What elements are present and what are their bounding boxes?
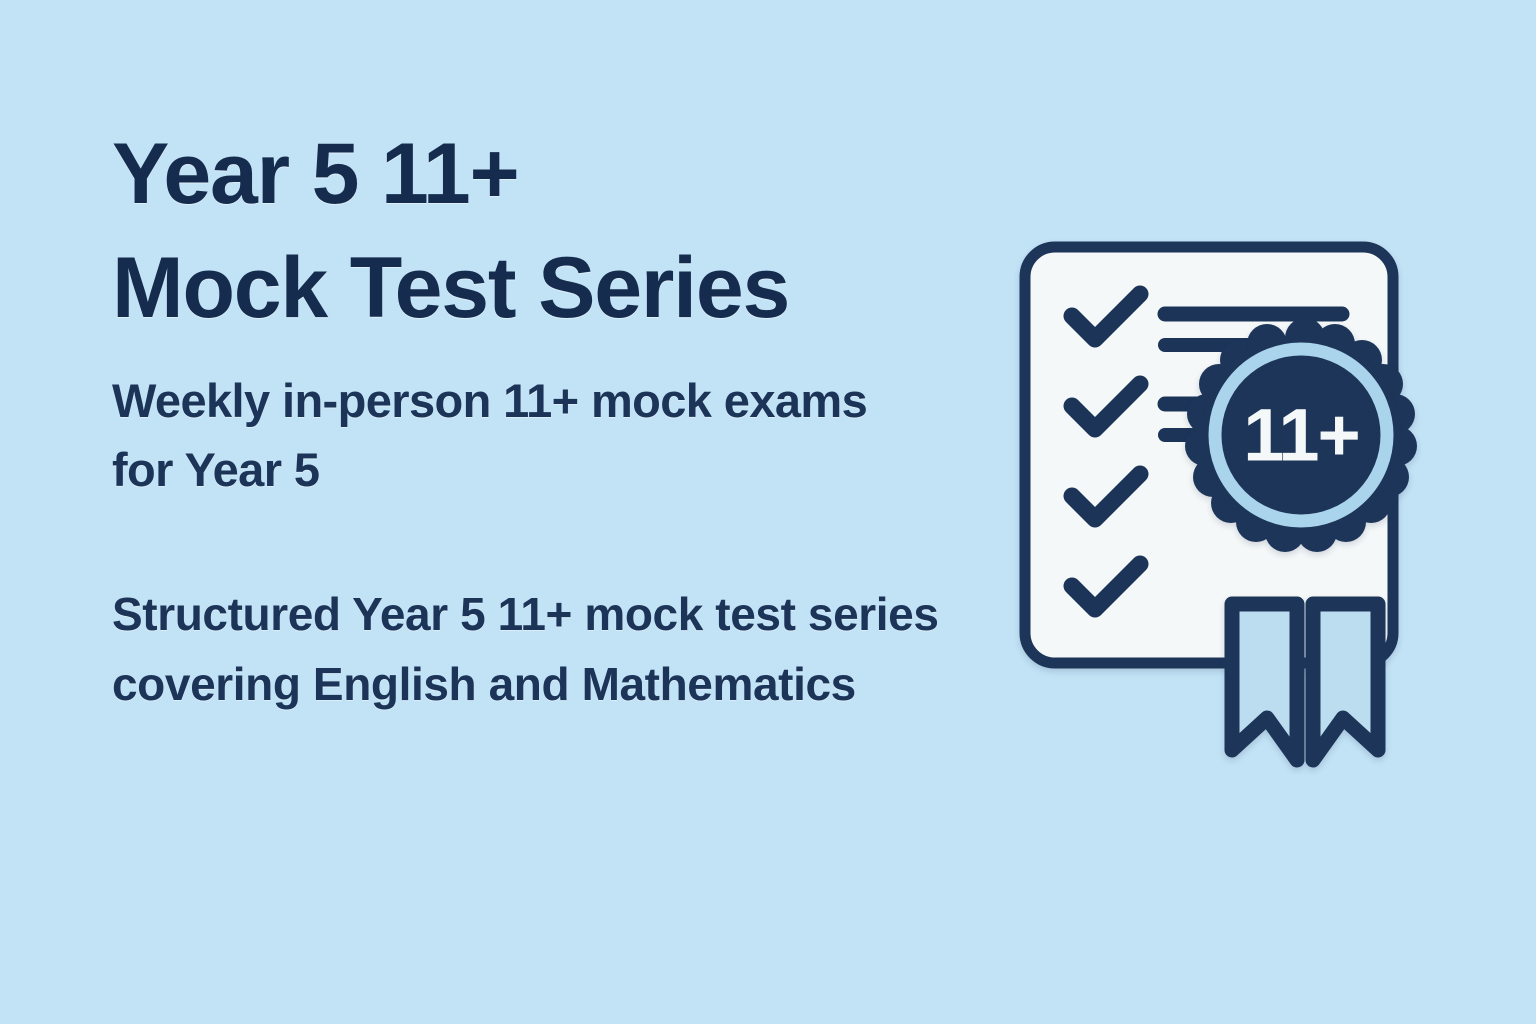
subtitle: Weekly in-person 11+ mock exams for Year… <box>112 367 902 504</box>
text-column: Year 5 11+ Mock Test Series Weekly in-pe… <box>112 118 1012 720</box>
page-title: Year 5 11+ Mock Test Series <box>112 118 1012 345</box>
certificate-checklist-illustration: 11+ <box>1000 220 1420 780</box>
badge-label: 11+ <box>1243 394 1358 477</box>
description-paragraph: Structured Year 5 11+ mock test series c… <box>112 580 992 720</box>
ribbon-tail-left <box>1232 604 1297 760</box>
hero-banner: Year 5 11+ Mock Test Series Weekly in-pe… <box>0 0 1536 1024</box>
ribbon-tail-right <box>1313 604 1378 760</box>
